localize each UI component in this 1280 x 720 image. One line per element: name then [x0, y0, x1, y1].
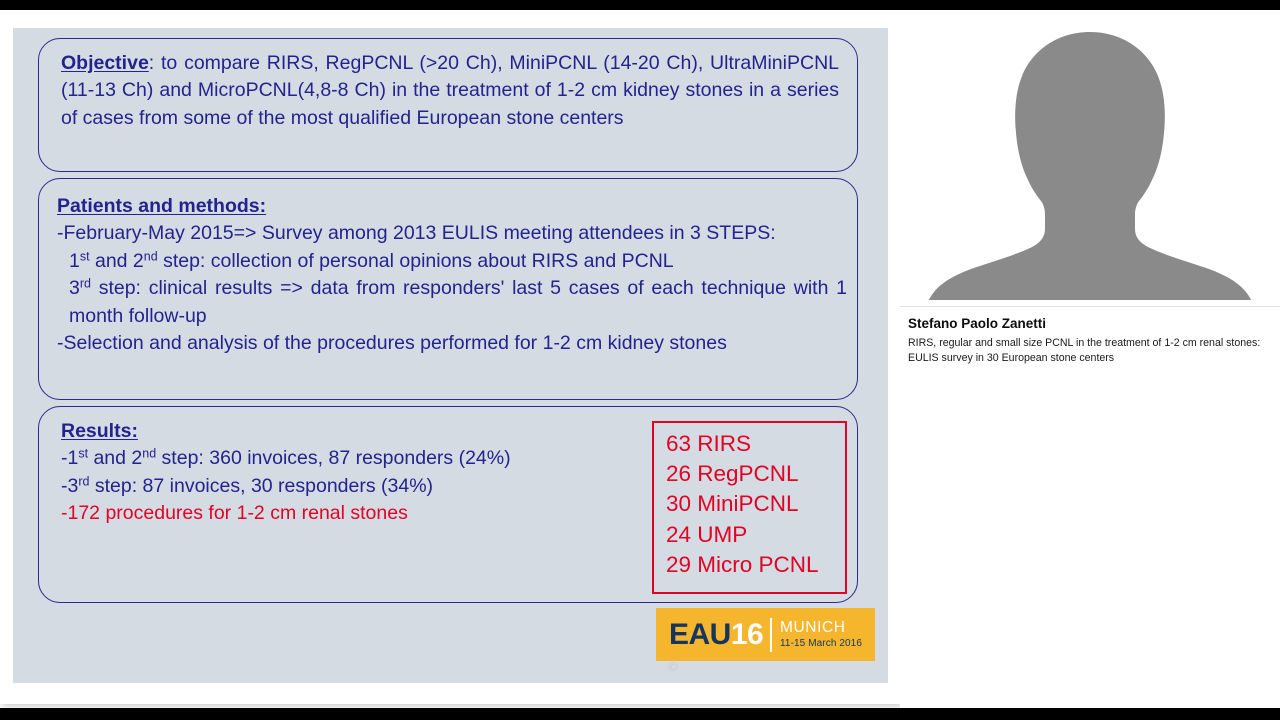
results-text: Results: -1st and 2nd step: 360 invoices… [61, 418, 621, 528]
step3-ordinal: rd [80, 277, 91, 291]
step2-ordinal: nd [144, 249, 158, 263]
objective-text: Objective: to compare RIRS, RegPCNL (>20… [61, 50, 839, 132]
slide-panel: Objective: to compare RIRS, RegPCNL (>20… [0, 10, 900, 708]
copyright-icon: © [668, 659, 678, 674]
logo-dates-text: 11-15 March 2016 [780, 639, 862, 649]
speaker-info-panel: Stefano Paolo Zanetti RIRS, regular and … [900, 10, 1280, 708]
logo-brand-text: EAU [669, 618, 731, 652]
talk-title: RIRS, regular and small size PCNL in the… [908, 336, 1274, 365]
video-player-viewport: Objective: to compare RIRS, RegPCNL (>20… [0, 0, 1280, 720]
letterbox-bar-top [0, 0, 1280, 10]
results-line-step3: -3rd step: 87 invoices, 30 responders (3… [61, 473, 621, 500]
objective-heading: Objective [61, 52, 149, 74]
person-silhouette-icon [910, 24, 1270, 300]
patients-methods-text: Patients and methods: -February-May 2015… [57, 193, 847, 357]
results-step2-number: and 2 [88, 447, 142, 469]
results-step1-ordinal: st [78, 447, 88, 461]
methods-line-step12: 1st and 2nd step: collection of personal… [57, 248, 847, 275]
count-item: 26 RegPCNL [666, 459, 845, 489]
objective-body: : to compare RIRS, RegPCNL (>20 Ch), Min… [61, 52, 839, 129]
results-heading: Results: [61, 418, 621, 445]
count-item: 24 UMP [666, 520, 845, 550]
patients-methods-heading: Patients and methods: [57, 193, 847, 220]
logo-year-text: 16 [731, 618, 763, 652]
logo-city-text: MUNICH [780, 620, 862, 636]
letterbox-bar-bottom [0, 708, 1280, 720]
speaker-name: Stefano Paolo Zanetti [908, 316, 1276, 331]
count-item: 29 Micro PCNL [666, 550, 845, 580]
step1-number: 1 [69, 250, 80, 272]
info-divider [900, 306, 1280, 307]
results-step2-ordinal: nd [142, 447, 156, 461]
results-line-procedures: -172 procedures for 1-2 cm renal stones [61, 500, 621, 527]
slide-surface-frame: Objective: to compare RIRS, RegPCNL (>20… [0, 10, 900, 704]
results-step3-ordinal: rd [78, 474, 89, 488]
step12-description: step: collection of personal opinions ab… [158, 250, 674, 272]
results-step1-number: -1 [61, 447, 78, 469]
methods-line-step3: 3rd step: clinical results => data from … [57, 275, 847, 330]
logo-divider [770, 618, 772, 652]
results-step3-number: -3 [61, 475, 78, 497]
methods-line-selection: -Selection and analysis of the procedure… [57, 330, 847, 357]
procedure-counts-box: 63 RIRS 26 RegPCNL 30 MiniPCNL 24 UMP 29… [652, 421, 847, 594]
step3-number: 3 [69, 277, 80, 299]
results-step3-description: step: 87 invoices, 30 responders (34%) [89, 475, 433, 497]
results-line-step12: -1st and 2nd step: 360 invoices, 87 resp… [61, 445, 621, 472]
logo-location-block: MUNICH 11-15 March 2016 [780, 620, 862, 649]
avatar [900, 10, 1280, 300]
count-item: 30 MiniPCNL [666, 489, 845, 519]
step1-ordinal: st [80, 249, 90, 263]
slide-content-area: Objective: to compare RIRS, RegPCNL (>20… [13, 28, 888, 683]
eau16-congress-logo: EAU 16 MUNICH 11-15 March 2016 [656, 608, 875, 661]
count-item: 63 RIRS [666, 429, 845, 459]
step2-number: and 2 [90, 250, 144, 272]
methods-line-survey: -February-May 2015=> Survey among 2013 E… [57, 220, 847, 247]
results-step12-description: step: 360 invoices, 87 responders (24%) [156, 447, 510, 469]
step3-description: step: clinical results => data from resp… [69, 277, 847, 326]
